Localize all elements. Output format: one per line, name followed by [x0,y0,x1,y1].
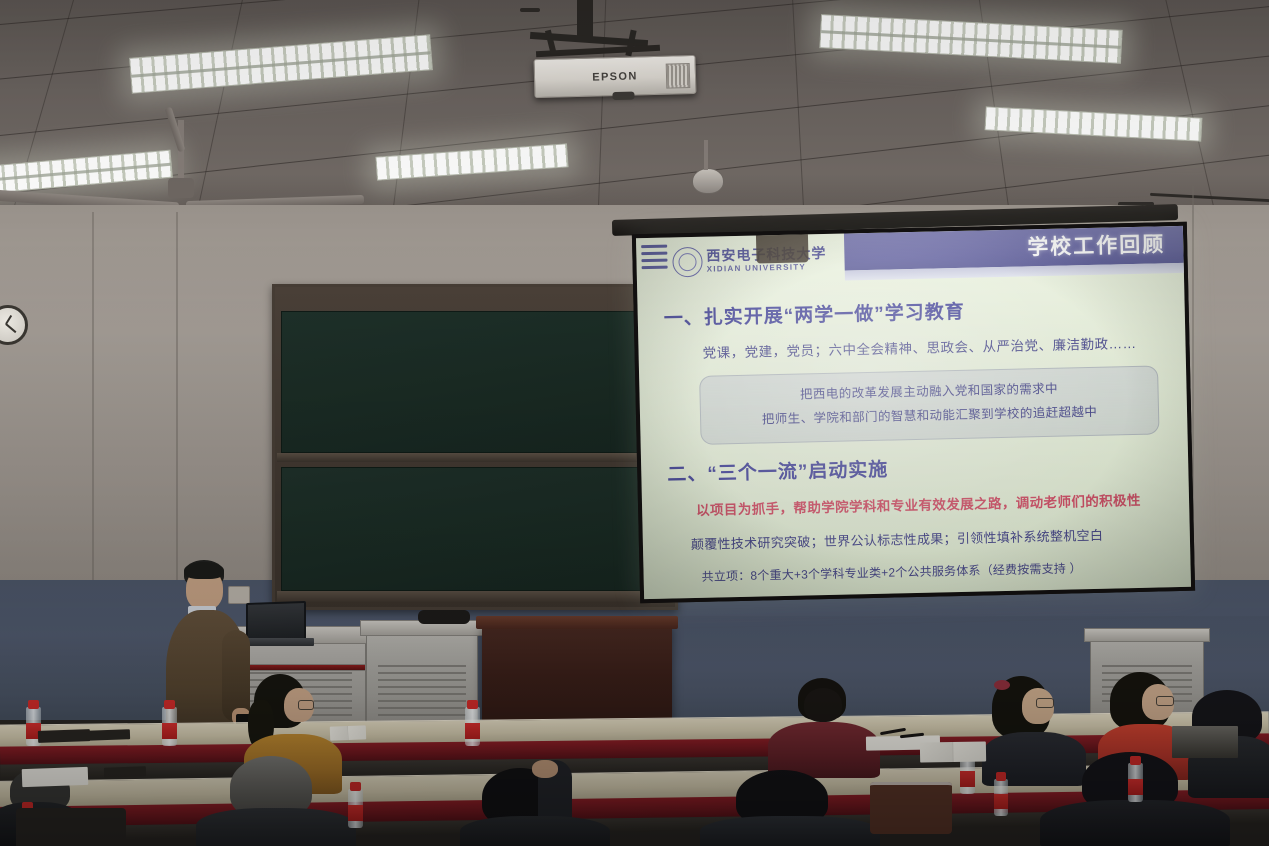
slide-decor-bars [641,245,668,274]
ceiling-speaker [692,168,724,194]
projector-vent [666,63,691,88]
presentation-slide: 学校工作回顾 西安电子科技大学 XIDIAN UNIVERSITY 一、扎实开展… [636,226,1191,599]
backpack [16,808,126,846]
water-bottle [162,700,177,746]
audience-member-grey-hair [196,756,356,846]
chalkboard-panel-top [281,311,669,453]
university-name-en: XIDIAN UNIVERSITY [707,262,807,273]
ceiling-vent-strip [520,8,540,12]
black-bag [418,610,470,624]
slide-heading-1: 一、扎实开展“两学一做”学习教育 [663,292,1166,330]
slide-line-4: 共立项：8个重大+3个学科专业类+2个公共服务体系（经费按需支持 ） [701,557,1172,585]
paper-sheet [22,767,89,787]
projector-shadow-artifact [756,228,809,263]
av-cabinet-far-right-top [1084,628,1210,642]
ceiling-speaker-rod [704,140,708,170]
projection-screen: 学校工作回顾 西安电子科技大学 XIDIAN UNIVERSITY 一、扎实开展… [632,222,1195,603]
wall-seam [92,212,94,612]
open-book [330,725,366,740]
audience-member-front-right [700,770,880,846]
glasses [1036,698,1054,708]
slide-heading-2: 二、“三个一流”启动实施 [667,448,1170,486]
dark-coat [460,816,610,846]
slide-line-3: 颠覆性技术研究突破；世界公认标志性成果；引领性填补系统整机空白 [691,523,1172,553]
university-seal-icon [672,247,703,278]
suspended-tile-ceiling: EPSON [0,0,1269,232]
hand [532,760,558,778]
chalkboard-panel-bottom [281,467,669,591]
slide-callout-box: 把西电的改革发展主动融入党和国家的需求中 把师生、学院和部门的智慧和动能汇聚到学… [699,365,1159,444]
lecture-hall-photo: EPSON 学校工作回顾 [0,0,1269,846]
water-bottle [1128,756,1143,802]
presenter-hair-top [184,562,224,579]
lectern-top-surface [476,616,678,629]
dark-coat [196,808,356,846]
audience-member-dark-coat [460,760,620,846]
glasses [298,700,314,710]
shoulder-bag [870,782,952,834]
chalkboard-ledge [277,453,673,462]
projector: EPSON [534,55,697,98]
projector-lens [612,92,634,101]
ceiling-fan-motor [168,178,194,198]
hair-tie [994,680,1010,690]
stacked-books [1172,726,1238,758]
bag-strap [870,782,952,837]
cabinet-vents [378,665,466,716]
notebook [86,729,130,741]
head [804,688,842,722]
notebook [38,729,90,743]
water-bottle [348,782,363,828]
chalkboard-bottom-rail [277,591,673,603]
wall-seam [176,212,178,612]
water-bottle [465,700,480,746]
dark-coat [700,816,880,846]
green-chalkboard [272,284,678,610]
open-book [920,741,986,762]
slide-title: 学校工作回顾 [1027,228,1166,261]
glasses [1156,696,1174,706]
dark-coat [1040,800,1230,846]
notebook [104,766,146,777]
slide-subtitle-1: 党课，党建，党员；六中全会精神、思政会、从严治党、廉洁勤政…… [702,331,1167,362]
water-bottle [994,772,1008,816]
slide-body: 一、扎实开展“两学一做”学习教育 党课，党建，党员；六中全会精神、思政会、从严治… [637,282,1191,599]
slide-highlight-line: 以项目为抓手，帮助学院学科和专业有效发展之路，调动老师们的积极性 [696,488,1171,519]
audience-member-maroon-sweater [768,678,886,778]
